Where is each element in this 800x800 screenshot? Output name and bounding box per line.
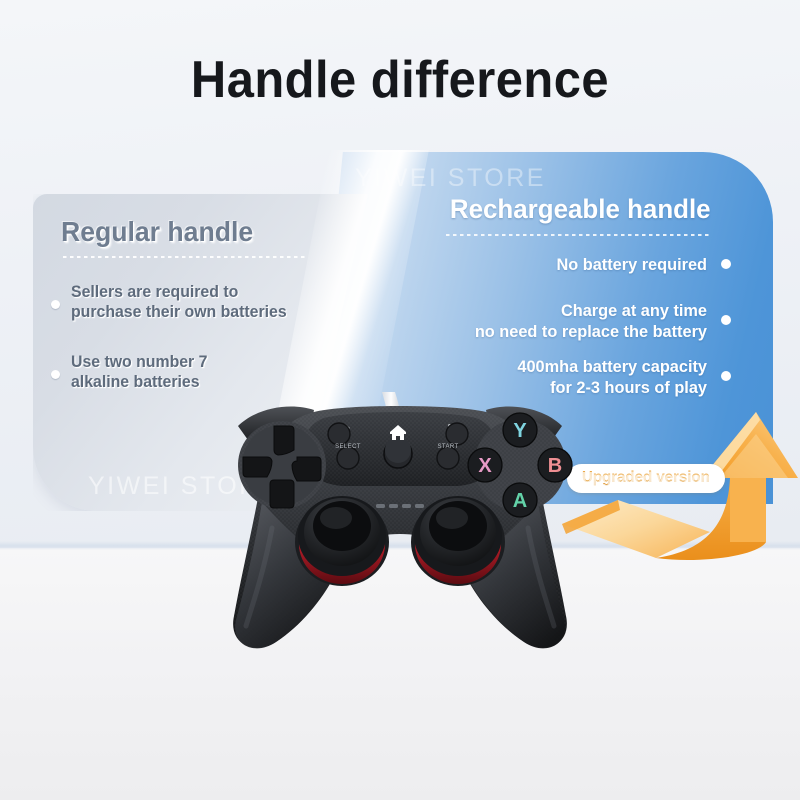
watermark-right: YIWEI STORE	[355, 164, 546, 193]
list-item: Use two number 7alkaline batteries	[51, 352, 371, 392]
list-item: Charge at any timeno need to replace the…	[377, 300, 731, 342]
right-analog-stick	[411, 496, 505, 586]
left-analog-stick	[295, 496, 389, 586]
svg-text:B: B	[548, 455, 562, 477]
bullet-dot-icon	[721, 315, 731, 325]
rechargeable-heading: Rechargeable handle	[450, 194, 711, 225]
svg-text:SELECT: SELECT	[335, 444, 361, 450]
svg-text:Y: Y	[513, 420, 527, 442]
bullet-dot-icon	[721, 259, 731, 269]
bullet-dot-icon	[721, 371, 731, 381]
bullet-dot-icon	[51, 370, 60, 379]
regular-divider	[63, 256, 308, 258]
page-title: Handle difference	[24, 50, 776, 110]
rechargeable-divider	[446, 234, 711, 236]
list-item: Sellers are required topurchase their ow…	[51, 282, 371, 322]
list-item-label: Sellers are required topurchase their ow…	[71, 282, 359, 322]
gamepad-product-image: SELECT START Y X B	[186, 392, 614, 660]
image-canvas: Handle difference YIWEI STORE Rechargeab…	[0, 0, 800, 800]
regular-heading: Regular handle	[61, 216, 327, 248]
svg-text:X: X	[478, 455, 492, 477]
svg-text:A: A	[513, 490, 527, 512]
list-item: No battery required	[377, 254, 731, 275]
bullet-dot-icon	[51, 300, 60, 309]
list-item-label: Charge at any timeno need to replace the…	[390, 300, 707, 342]
list-item-label: Use two number 7alkaline batteries	[71, 352, 359, 392]
svg-text:START: START	[437, 444, 458, 450]
gamepad-illustration: SELECT START Y X B	[186, 392, 614, 660]
list-item-label: No battery required	[390, 254, 707, 275]
